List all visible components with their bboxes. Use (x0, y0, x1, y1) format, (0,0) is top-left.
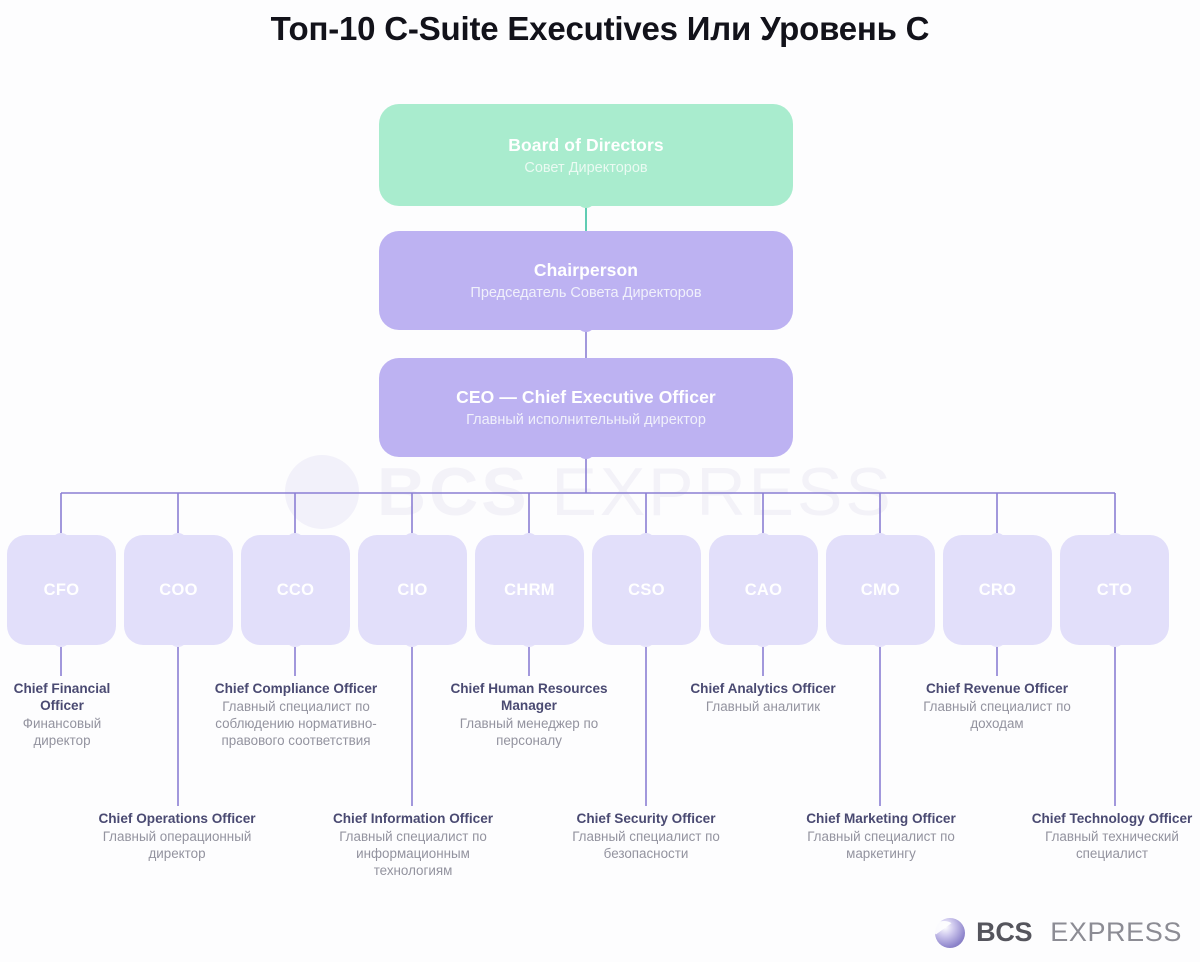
node-ceo[interactable]: CEO — Chief Executive Officer Главный ис… (386, 365, 786, 450)
leaf-cso: Chief Security Officer Главный специалис… (561, 810, 731, 863)
chip-cao[interactable]: CAO (716, 542, 811, 638)
watermark-sphere-icon (285, 455, 359, 529)
leaf-title-ru: Главный специалист по безопасности (561, 829, 731, 863)
bcs-express-watermark: BCS EXPRESS (285, 452, 905, 532)
leaf-title-ru: Главный специалист по информационным тех… (322, 829, 504, 880)
chip-label: CSO (628, 581, 665, 600)
chip-label: CRO (979, 581, 1017, 600)
leaf-cto: Chief Technology Officer Главный техниче… (1024, 810, 1200, 863)
leaf-title-en: Chief Compliance Officer (210, 680, 382, 697)
leaf-title-en: Chief Revenue Officer (915, 680, 1079, 697)
chip-label: CTO (1097, 581, 1132, 600)
watermark-text-light: EXPRESS (530, 454, 894, 530)
chip-coo[interactable]: COO (131, 542, 226, 638)
leaf-title-en: Chief Marketing Officer (796, 810, 966, 827)
node-title-en: Chairperson (534, 260, 638, 281)
logo-express-text: EXPRESS (1050, 917, 1182, 948)
chip-cso[interactable]: CSO (599, 542, 694, 638)
leaf-title-en: Chief Operations Officer (82, 810, 272, 827)
node-board-of-directors[interactable]: Board of Directors Совет Директоров (386, 111, 786, 199)
chip-cio[interactable]: CIO (365, 542, 460, 638)
leaf-cco: Chief Compliance Officer Главный специал… (210, 680, 382, 750)
sphere-icon (935, 918, 965, 948)
node-title-ru: Совет Директоров (524, 160, 647, 176)
leaf-title-ru: Главный специалист по доходам (915, 699, 1079, 733)
leaf-title-ru: Главный технический специалист (1024, 829, 1200, 863)
watermark-text-bold: BCS (377, 454, 530, 530)
chip-cto[interactable]: CTO (1067, 542, 1162, 638)
chip-label: CMO (861, 581, 900, 600)
chip-label: COO (159, 581, 197, 600)
leaf-cio: Chief Information Officer Главный специа… (322, 810, 504, 880)
leaf-title-en: Chief Human Resources Manager (443, 680, 615, 714)
leaf-cro: Chief Revenue Officer Главный специалист… (915, 680, 1079, 733)
leaf-cao: Chief Analytics Officer Главный аналитик (690, 680, 836, 716)
leaf-title-en: Chief Technology Officer (1024, 810, 1200, 827)
chip-chrm[interactable]: CHRM (482, 542, 577, 638)
chip-cfo[interactable]: CFO (14, 542, 109, 638)
leaf-title-ru: Главный специалист по маркетингу (796, 829, 966, 863)
node-title-en: CEO — Chief Executive Officer (456, 387, 716, 408)
leaf-title-en: Chief Analytics Officer (690, 680, 836, 697)
chip-label: CAO (745, 581, 783, 600)
chip-label: CCO (277, 581, 315, 600)
leaf-coo: Chief Operations Officer Главный операци… (82, 810, 272, 863)
logo-bcs-text: BCS (976, 917, 1032, 948)
node-title-ru: Главный исполнительный директор (466, 412, 706, 428)
node-title-en: Board of Directors (508, 135, 663, 156)
leaf-title-ru: Финансовый директор (0, 716, 124, 750)
leaf-title-ru: Главный менеджер по персоналу (443, 716, 615, 750)
chip-cmo[interactable]: CMO (833, 542, 928, 638)
leaf-title-ru: Главный аналитик (690, 699, 836, 716)
node-title-ru: Председатель Совета Директоров (470, 285, 701, 301)
leaf-title-ru: Главный специалист по соблюдению нормати… (210, 699, 382, 750)
chip-label: CFO (44, 581, 80, 600)
leaf-chrm: Chief Human Resources Manager Главный ме… (443, 680, 615, 750)
page-title: Топ-10 C-Suite Executives Или Уровень С (0, 10, 1200, 48)
chip-cro[interactable]: CRO (950, 542, 1045, 638)
leaf-cmo: Chief Marketing Officer Главный специали… (796, 810, 966, 863)
node-chairperson[interactable]: Chairperson Председатель Совета Директор… (386, 238, 786, 323)
bcs-express-logo[interactable]: BCS EXPRESS (935, 917, 1182, 948)
org-chart-canvas: BCS EXPRESS Топ-10 C-Suite Executives Ил… (0, 0, 1200, 962)
chip-label: CHRM (504, 581, 555, 600)
leaf-title-en: Chief Financial Officer (0, 680, 124, 714)
chip-cco[interactable]: CCO (248, 542, 343, 638)
leaf-title-en: Chief Security Officer (561, 810, 731, 827)
watermark-text: BCS EXPRESS (377, 453, 894, 531)
leaf-title-en: Chief Information Officer (322, 810, 504, 827)
leaf-cfo: Chief Financial Officer Финансовый дирек… (0, 680, 124, 750)
leaf-title-ru: Главный операционный директор (82, 829, 272, 863)
chip-label: CIO (397, 581, 427, 600)
